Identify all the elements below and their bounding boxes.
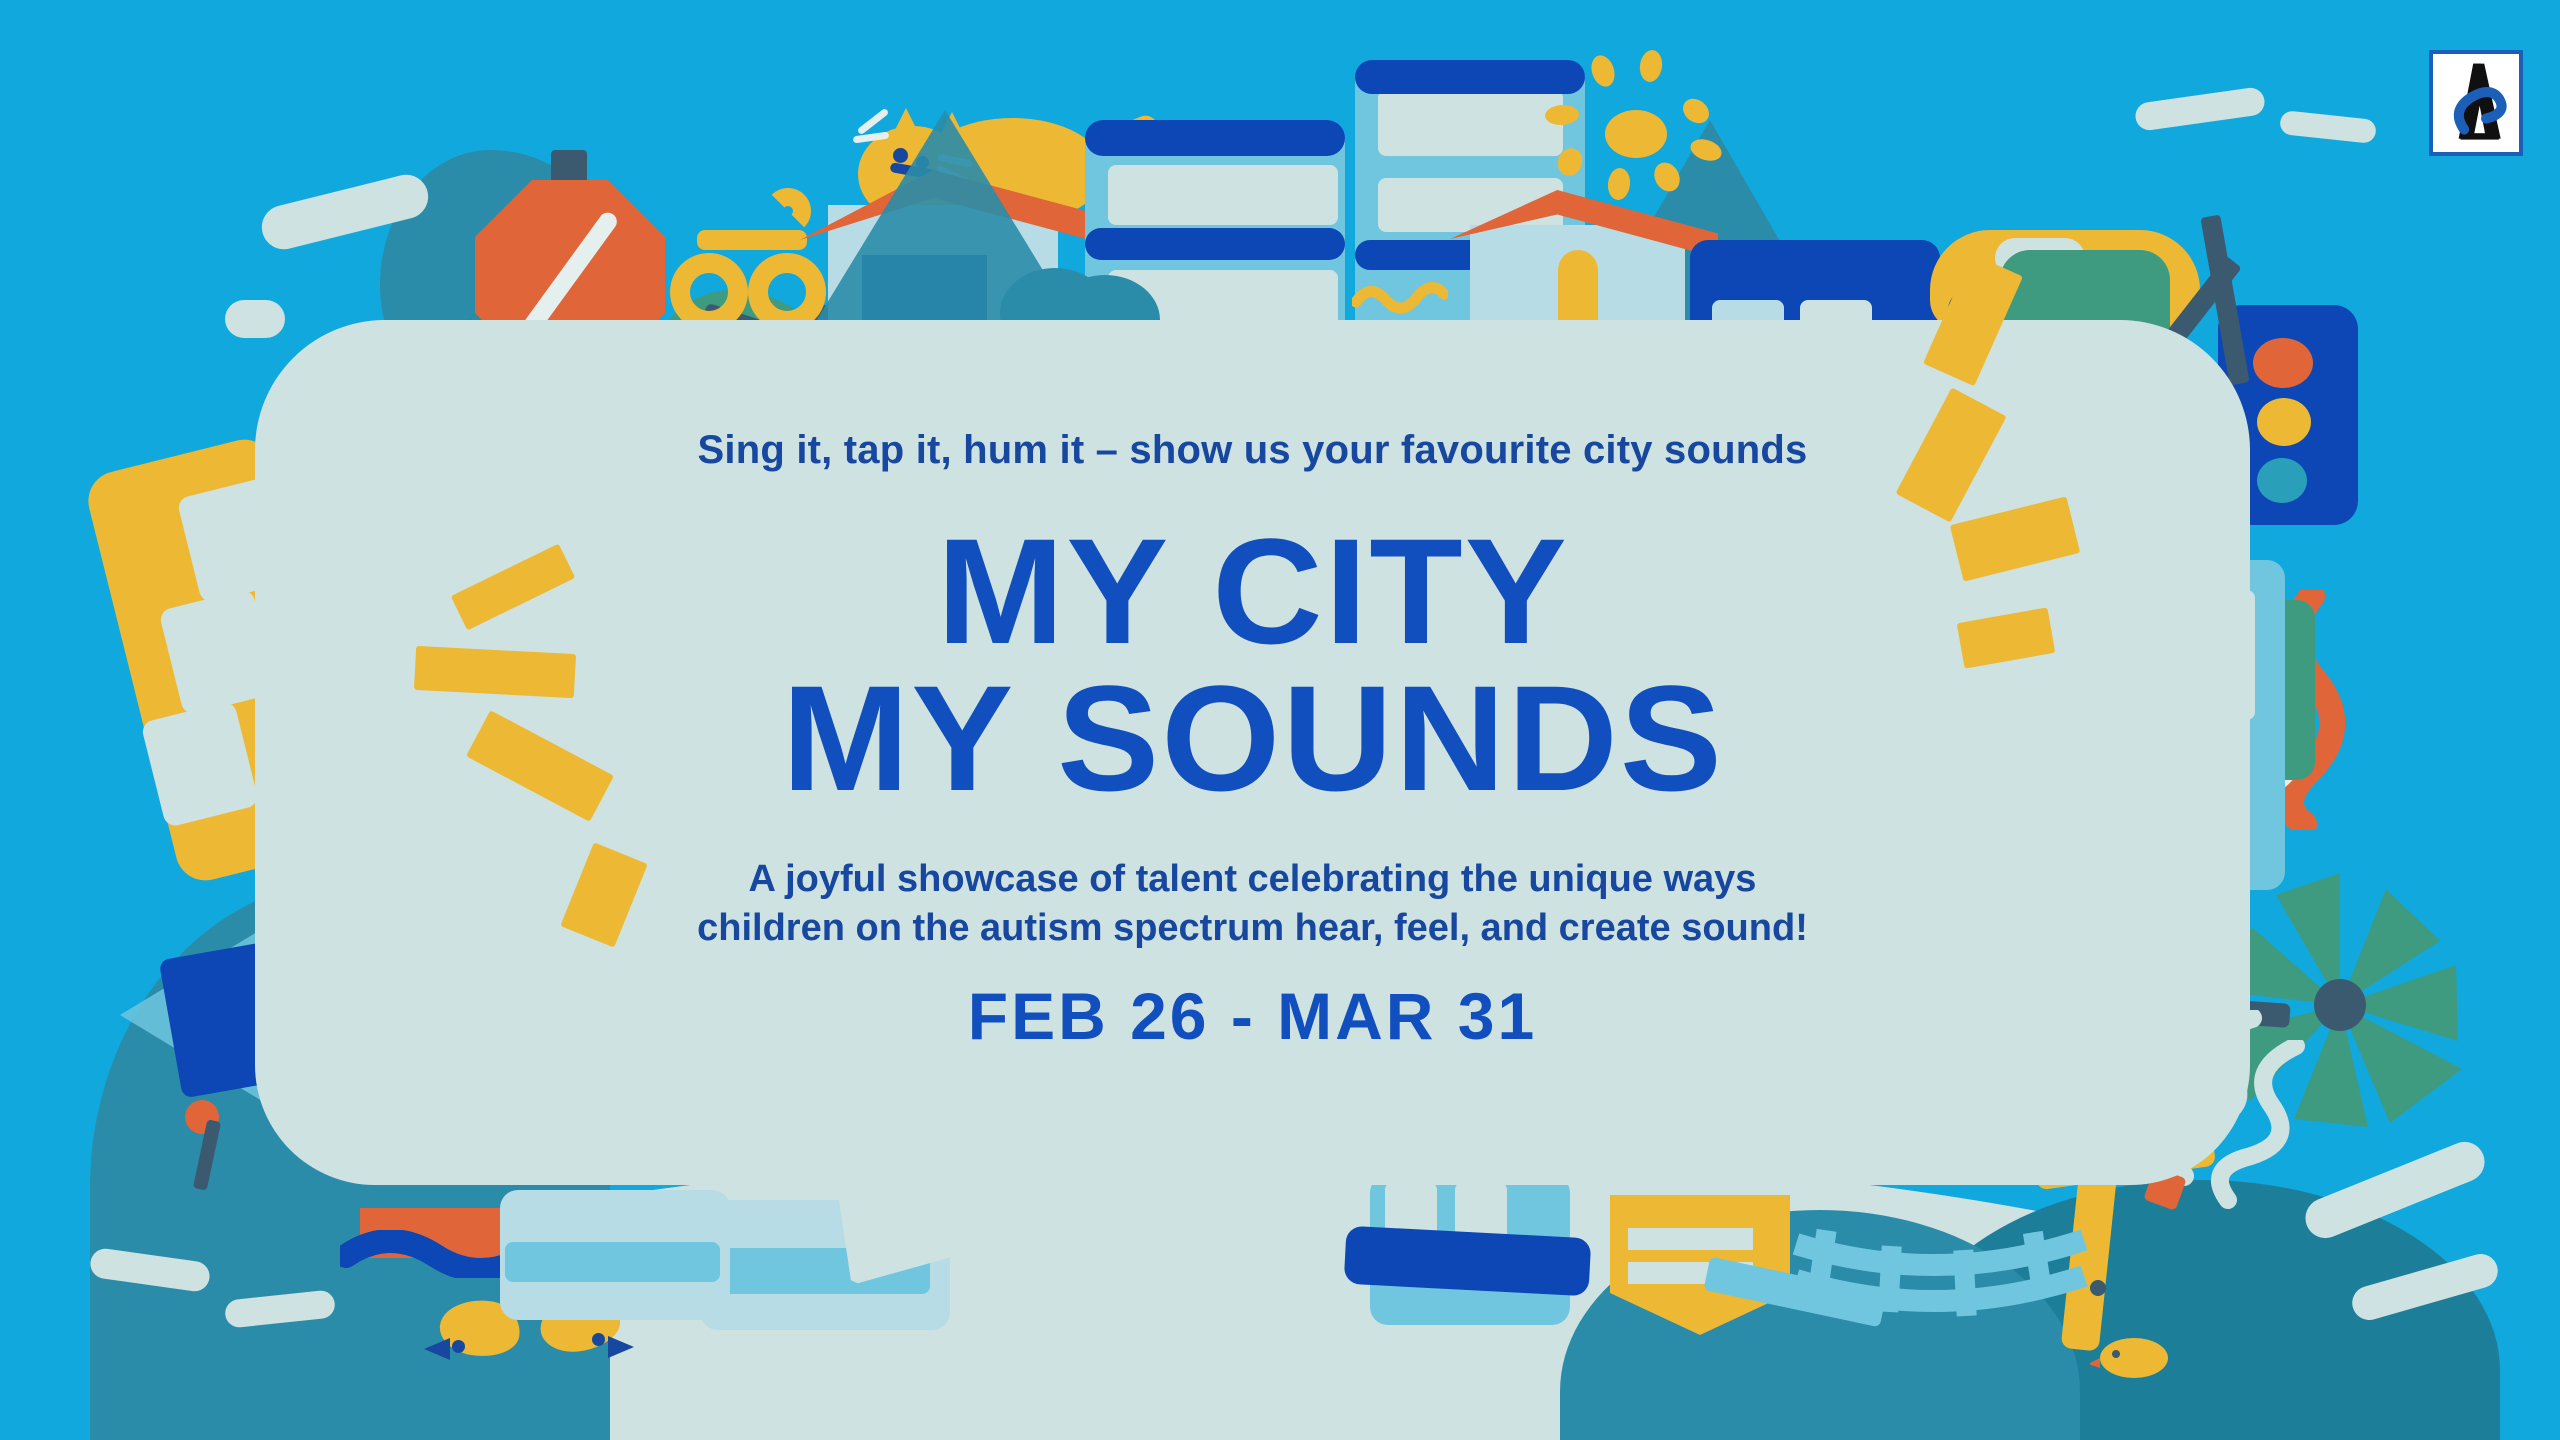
speech-bubble-card: Sing it, tap it, hum it – show us your f…: [255, 320, 2250, 1185]
tagline: Sing it, tap it, hum it – show us your f…: [698, 428, 1808, 473]
cloud: [2279, 110, 2377, 144]
event-dates: FEB 26 - MAR 31: [968, 978, 1537, 1054]
building-band: [505, 1242, 720, 1282]
title-line-2: MY SOUNDS: [781, 668, 1723, 809]
subtitle: A joyful showcase of talent celebrating …: [697, 855, 1808, 952]
building-window: [1378, 90, 1563, 156]
cloud: [2134, 86, 2267, 132]
squiggle-decoration: [1352, 280, 1448, 314]
building-window: [1108, 165, 1338, 225]
cat-ear: [890, 108, 922, 140]
fish-eye: [592, 1333, 605, 1346]
fish-eye: [452, 1340, 465, 1353]
card-content: Sing it, tap it, hum it – show us your f…: [255, 320, 2250, 1185]
sun-ray: [1588, 52, 1619, 89]
title-line-1: MY CITY: [936, 521, 1568, 662]
bicycle-handlebar: [765, 188, 811, 234]
logo-mark: [2433, 54, 2519, 152]
sun-core: [1605, 110, 1667, 158]
bird: [2090, 1330, 2180, 1390]
traffic-light-amber: [2257, 398, 2311, 446]
organisation-logo[interactable]: [2429, 50, 2523, 156]
building-band: [1085, 120, 1345, 156]
traffic-light-red: [2253, 338, 2313, 388]
crossing-sign-stripe: [1628, 1228, 1753, 1250]
cat-eye: [893, 148, 908, 163]
building-band: [1355, 60, 1585, 94]
poster-root: Sing it, tap it, hum it – show us your f…: [0, 0, 2560, 1440]
level-crossing-light: [2090, 1280, 2106, 1296]
sun-ray: [1638, 49, 1664, 84]
building-band: [1085, 228, 1345, 260]
traffic-light-green: [2257, 458, 2307, 503]
sun-ray: [1606, 167, 1631, 201]
